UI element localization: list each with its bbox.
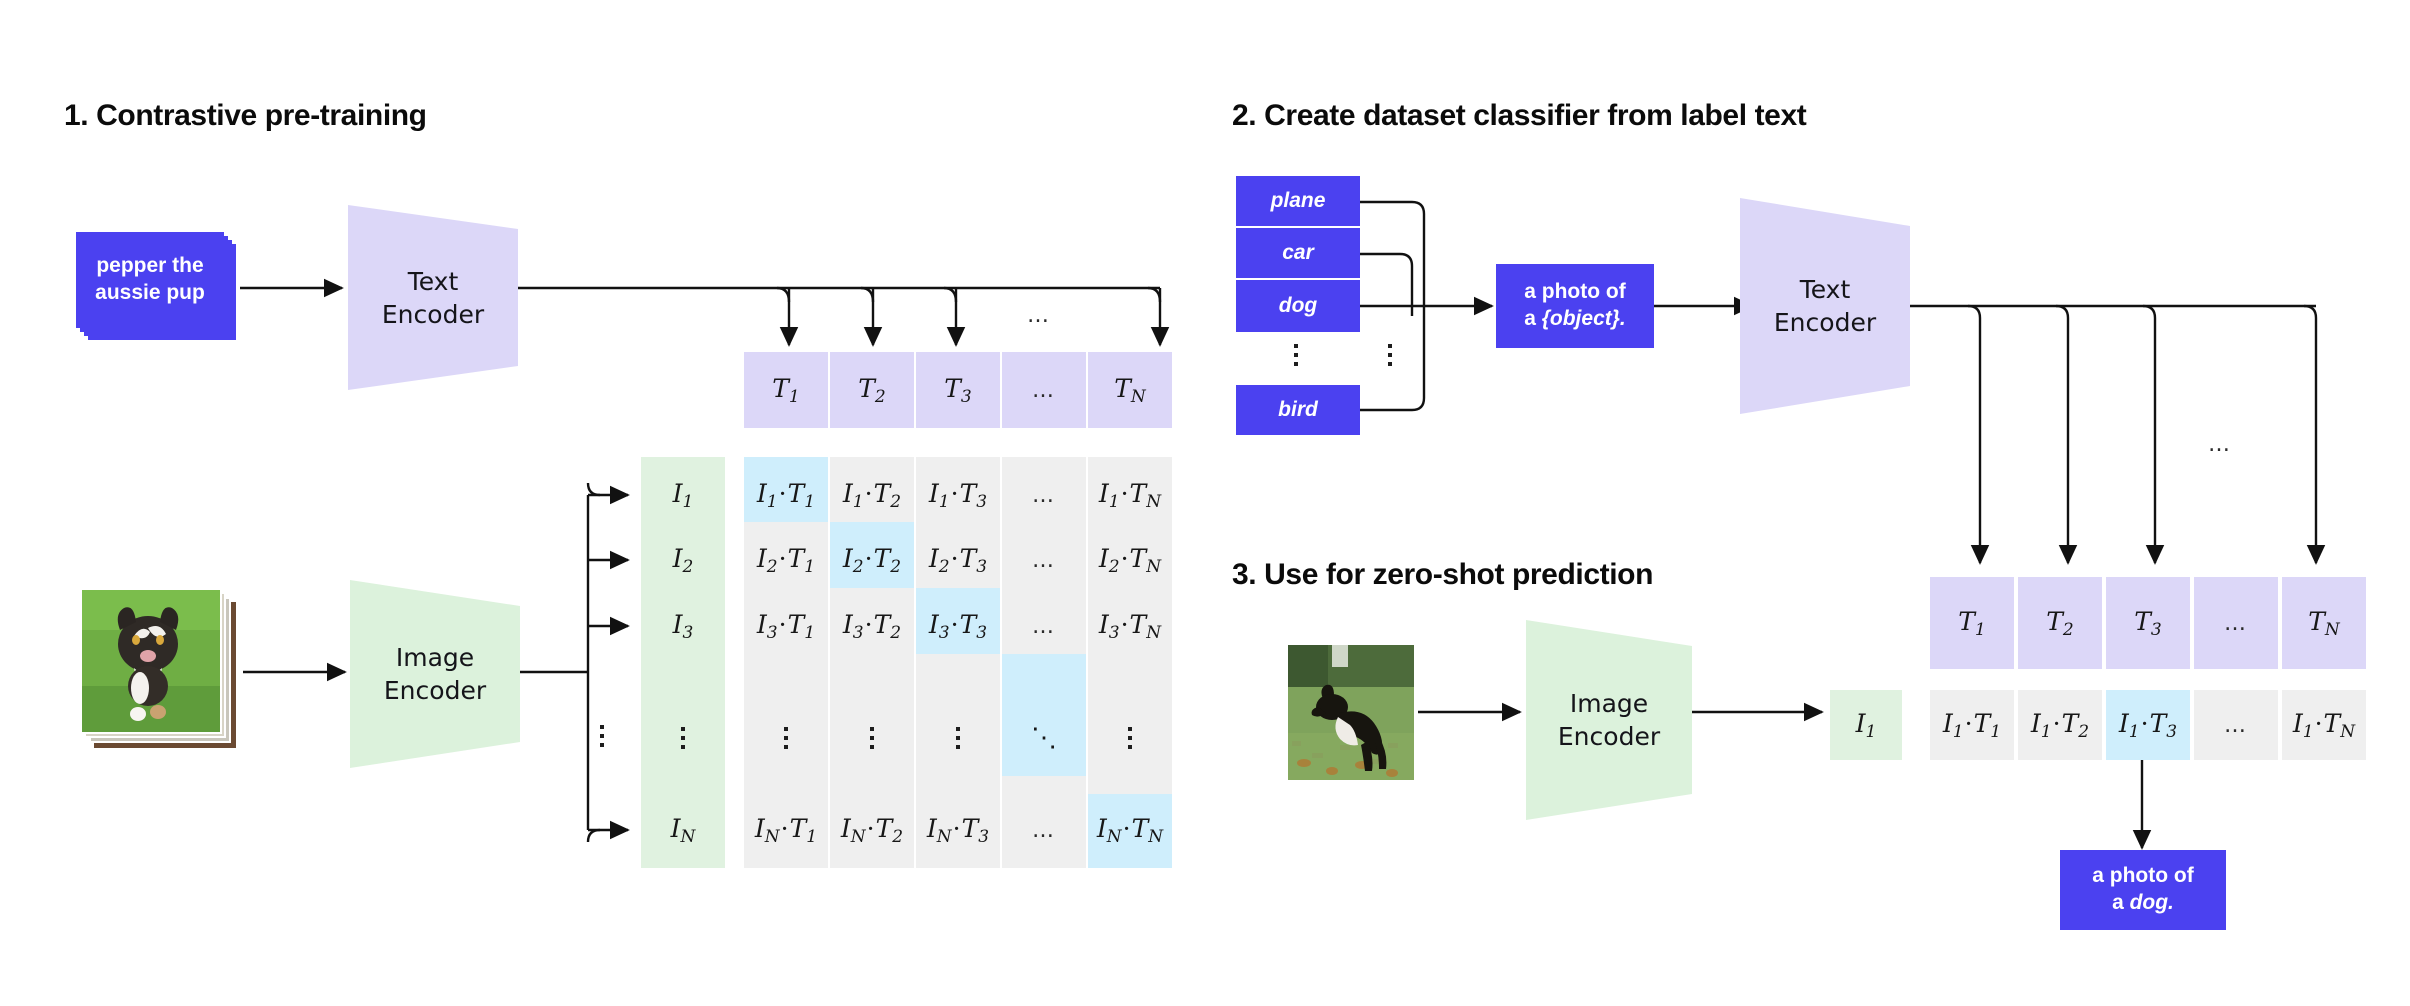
image-column-band-2 [641,776,725,794]
matrix-band-f [744,776,828,794]
label-box-plane[interactable]: plane [1236,176,1360,226]
image-encoder-3-label-2: Encoder [1558,720,1660,753]
score-cell [1088,700,1172,776]
text-encoder-2-label-2: Encoder [1774,306,1876,339]
score-cell: I2·T3 [916,522,1000,598]
score-cell: I3·T2 [830,588,914,664]
score-cell: … [1002,792,1086,868]
section-3-title: 3. Use for zero-shot prediction [1232,558,1653,592]
result-line-1: a photo of [2092,863,2193,890]
text-encoder-s1: Text Encoder [348,205,518,390]
text-bus-ellipsis-s2: … [2208,432,2232,457]
text-encoder-label-2: Encoder [382,298,484,331]
text-encoder-s2: Text Encoder [1740,198,1910,414]
image-encoder-label-1: Image [384,641,486,674]
score-cell: ⋱ [1002,700,1086,776]
zero-shot-score-cell: I1·T2 [2018,690,2102,760]
image-encoder-3-label-1: Image [1558,687,1660,720]
score-cell [744,700,828,776]
text-encoder-label-1: Text [382,265,484,298]
text-encoder-2-label-1: Text [1774,273,1876,306]
prediction-result-card: a photo of a dog. [2060,850,2226,930]
score-cell: … [1002,522,1086,598]
matrix-band-c [916,654,1000,702]
score-cell: I2·T2 [830,522,914,598]
query-photo-icon [1288,645,1414,780]
caption-line-1: pepper the [95,253,205,280]
prompt-template-card: a photo of a {object}. [1496,264,1654,348]
score-cell: IN·T1 [744,792,828,868]
clip-diagram: 1. Contrastive pre-training pepper the a… [0,0,2410,1006]
label-wire-ellipsis [1388,344,1392,366]
matrix-band-h [916,776,1000,794]
photo-stack-front [80,588,222,734]
image-vector-i3: I3 [641,588,725,664]
label-box-car[interactable]: car [1236,228,1360,278]
image-bus-ellipsis [600,725,604,747]
result-line-2: a dog. [2092,890,2193,917]
result-article: a [2112,891,2130,914]
label-box-bird[interactable]: bird [1236,385,1360,435]
label-box-dog[interactable]: dog [1236,280,1360,332]
prompt-placeholder: {object}. [1542,307,1626,330]
classifier-vector-t2: T2 [2018,577,2102,669]
text-vector-tn: TN [1088,352,1172,428]
prompt-line-2: a {object}. [1524,306,1626,333]
classifier-vector-ellipsis: … [2194,577,2278,669]
connector-layer [0,0,2410,1006]
caption-card-stack: pepper the aussie pup [76,232,246,342]
prompt-line-1: a photo of [1524,279,1626,306]
image-encoder-label-2: Encoder [384,674,486,707]
score-cell: I3·T3 [916,588,1000,664]
text-vector-t2: T2 [830,352,914,428]
image-vector-ellipsis [641,700,725,776]
score-cell: I3·TN [1088,588,1172,664]
score-cell: I3·T1 [744,588,828,664]
caption-card-front: pepper the aussie pup [76,232,224,328]
text-vector-t3: T3 [916,352,1000,428]
score-cell [916,700,1000,776]
text-bus-ellipsis: … [1027,303,1051,328]
matrix-band-a [744,654,828,702]
matrix-band-g [830,776,914,794]
score-cell: … [1002,588,1086,664]
score-cell [830,700,914,776]
zero-shot-score-cell: I1·T1 [1930,690,2014,760]
image-vector-in: IN [641,792,725,868]
image-column-band [641,654,725,702]
zero-shot-score-cell: I1·TN [2282,690,2366,760]
caption-line-2: aussie pup [95,280,205,307]
label-list-ellipsis [1294,344,1298,366]
image-encoder-s3: Image Encoder [1526,620,1692,820]
query-image-vector: I1 [1830,690,1902,760]
zero-shot-score-cell: … [2194,690,2278,760]
puppy-photo-icon [82,590,220,732]
matrix-band-d [1002,654,1086,702]
matrix-band-j [1088,776,1172,794]
matrix-band-b [830,654,914,702]
photo-stack [80,588,250,748]
score-cell: IN·T3 [916,792,1000,868]
matrix-band-i [1002,776,1086,794]
score-cell: IN·TN [1088,792,1172,868]
result-class: dog. [2130,891,2174,914]
classifier-vector-tn: TN [2282,577,2366,669]
score-cell: I2·T1 [744,522,828,598]
matrix-band-e [1088,654,1172,702]
classifier-vector-t1: T1 [1930,577,2014,669]
score-cell: IN·T2 [830,792,914,868]
section-2-title: 2. Create dataset classifier from label … [1232,99,1806,133]
zero-shot-score-cell: I1·T3 [2106,690,2190,760]
image-vector-i2: I2 [641,522,725,598]
prompt-article: a [1524,307,1542,330]
section-1-title: 1. Contrastive pre-training [64,99,427,133]
classifier-vector-t3: T3 [2106,577,2190,669]
text-vector-t1: T1 [744,352,828,428]
score-cell: I2·TN [1088,522,1172,598]
text-vector-ellipsis: … [1002,352,1086,428]
query-photo [1288,645,1414,780]
image-encoder-s1: Image Encoder [350,580,520,768]
